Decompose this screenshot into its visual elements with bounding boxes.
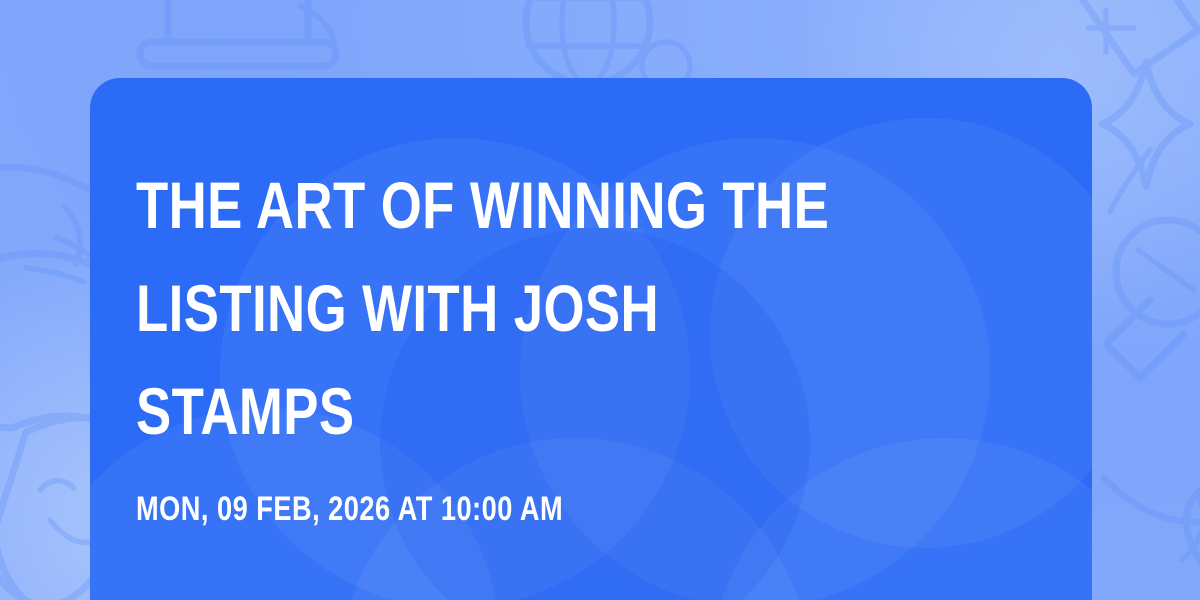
sparkle-icon <box>1102 62 1190 186</box>
event-title: The Art of Winning the Listing with Josh… <box>136 78 869 463</box>
event-card: The Art of Winning the Listing with Josh… <box>90 78 1092 600</box>
microphone-icon <box>1106 220 1200 378</box>
laptop-icon <box>140 0 336 66</box>
event-banner: The Art of Winning the Listing with Josh… <box>0 0 1200 600</box>
globe-icon <box>526 0 650 84</box>
event-date: Mon, 09 Feb, 2026 at 10:00 AM <box>136 463 869 529</box>
ribbon-swirl-icon <box>1104 478 1200 590</box>
ticket-icon <box>1076 0 1198 74</box>
card-content: The Art of Winning the Listing with Josh… <box>136 78 1052 529</box>
